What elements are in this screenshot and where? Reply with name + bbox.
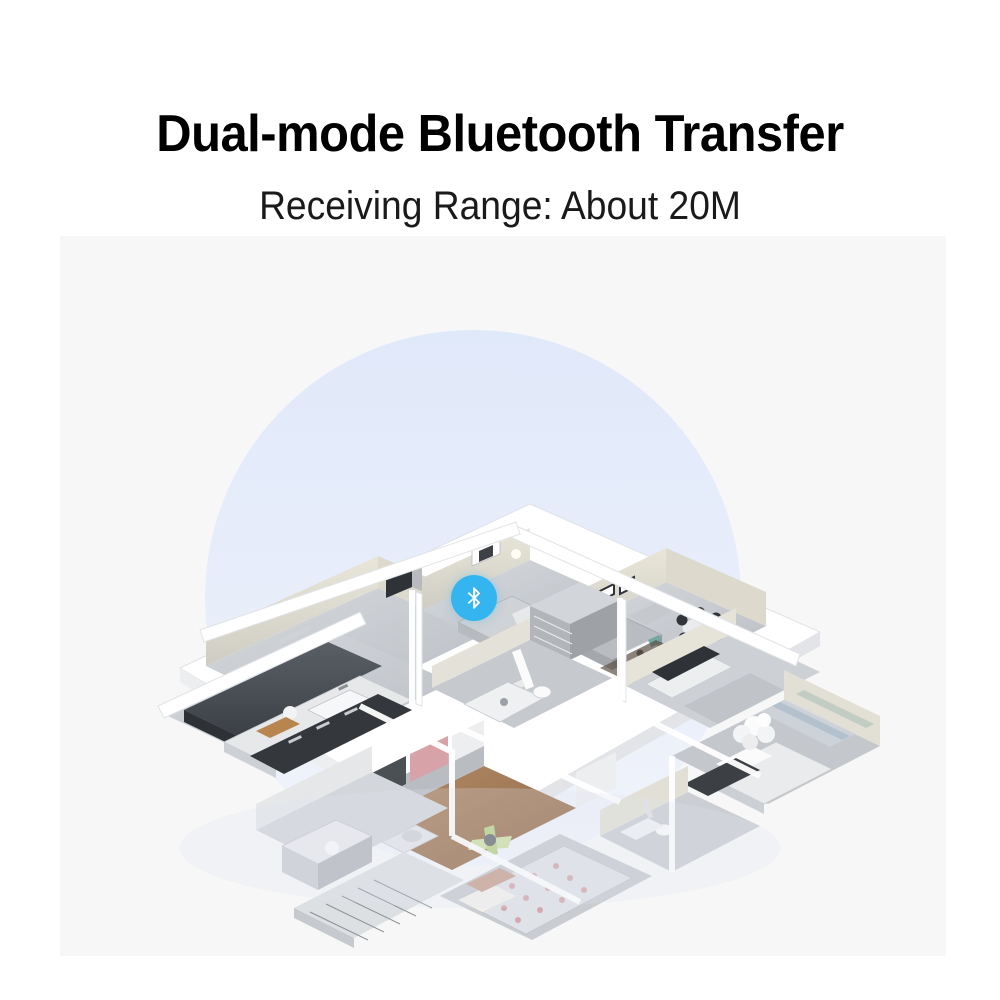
bluetooth-badge <box>451 575 497 621</box>
illustration-panel <box>60 236 946 956</box>
bluetooth-icon <box>461 585 487 611</box>
floor-plan-illustration <box>60 236 946 956</box>
page-title: Dual-mode Bluetooth Transfer <box>30 104 970 164</box>
product-feature-banner: Dual-mode Bluetooth Transfer Receiving R… <box>0 0 1000 1000</box>
page-subtitle: Receiving Range: About 20M <box>35 182 965 230</box>
